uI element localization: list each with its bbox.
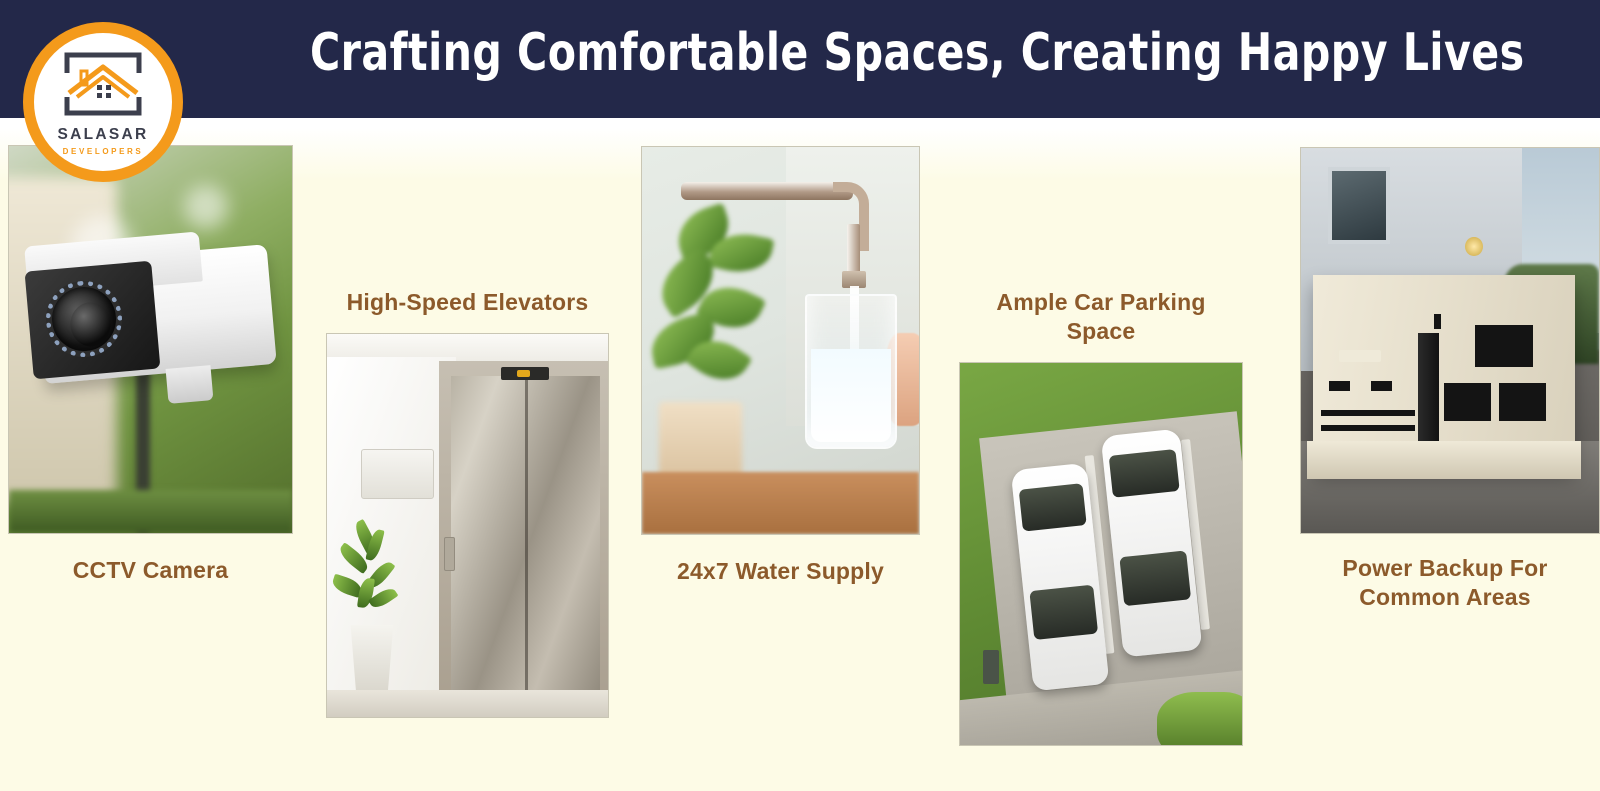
feature-card-power-backup: Power Backup For Common Areas (1300, 147, 1600, 612)
house-outline-icon (59, 51, 147, 121)
logo-brand-name: SALASAR (57, 126, 148, 144)
feature-caption-parking: Ample Car Parking Space (959, 288, 1243, 346)
feature-caption-water: 24x7 Water Supply (641, 557, 920, 586)
feature-card-parking: Ample Car Parking Space (959, 288, 1243, 746)
feature-card-water: 24x7 Water Supply (641, 146, 920, 586)
diesel-generator-photo (1300, 147, 1600, 534)
feature-caption-power-backup: Power Backup For Common Areas (1300, 554, 1590, 612)
feature-caption-cctv: CCTV Camera (8, 556, 293, 585)
tap-filling-glass-photo (641, 146, 920, 535)
feature-caption-power-line1: Power Backup For (1342, 555, 1547, 581)
page-title: Crafting Comfortable Spaces, Creating Ha… (310, 22, 1410, 84)
amenities-banner: Crafting Comfortable Spaces, Creating Ha… (0, 0, 1600, 791)
feature-caption-power-line2: Common Areas (1359, 584, 1531, 610)
brand-logo-badge[interactable]: SALASAR DEVELOPERS (23, 22, 183, 182)
cctv-camera-photo (8, 145, 293, 534)
elevator-doors-photo (326, 333, 609, 718)
feature-card-elevator: High-Speed Elevators (326, 288, 609, 718)
feature-card-cctv: CCTV Camera (8, 145, 293, 585)
feature-caption-elevator: High-Speed Elevators (326, 288, 609, 317)
aerial-parked-cars-photo (959, 362, 1243, 746)
logo-brand-subtitle: DEVELOPERS (63, 147, 144, 156)
